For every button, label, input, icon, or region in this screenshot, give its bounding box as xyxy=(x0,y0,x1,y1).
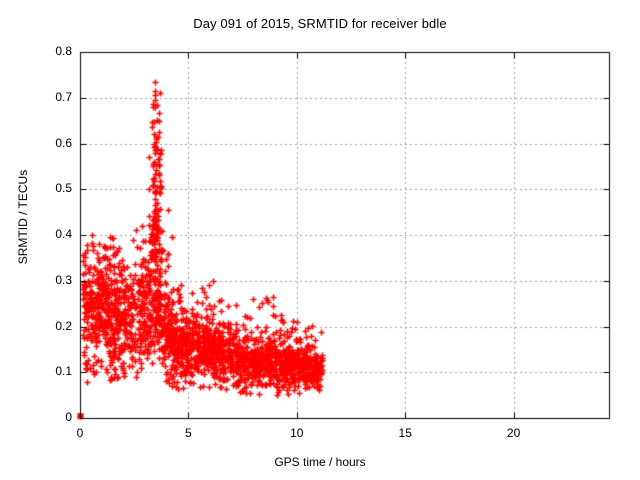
y-axis-tick-label: 0 xyxy=(16,410,72,424)
x-axis-tick-label: 5 xyxy=(163,426,213,440)
x-axis-tick-label: 20 xyxy=(489,426,539,440)
x-axis-tick-label: 0 xyxy=(55,426,105,440)
y-axis-tick-label: 0.2 xyxy=(16,319,72,333)
chart-figure: Day 091 of 2015, SRMTID for receiver bdl… xyxy=(0,0,640,480)
y-axis-tick-label: 0.6 xyxy=(16,136,72,150)
y-axis-tick-label: 0.5 xyxy=(16,181,72,195)
scatter-plot-canvas xyxy=(0,0,640,480)
y-axis-tick-label: 0.1 xyxy=(16,364,72,378)
y-axis-tick-label: 0.7 xyxy=(16,90,72,104)
x-axis-label: GPS time / hours xyxy=(0,455,640,469)
x-axis-tick-label: 15 xyxy=(380,426,430,440)
x-axis-tick-label: 10 xyxy=(272,426,322,440)
y-axis-tick-label: 0.8 xyxy=(16,44,72,58)
y-axis-tick-label: 0.3 xyxy=(16,273,72,287)
y-axis-tick-label: 0.4 xyxy=(16,227,72,241)
